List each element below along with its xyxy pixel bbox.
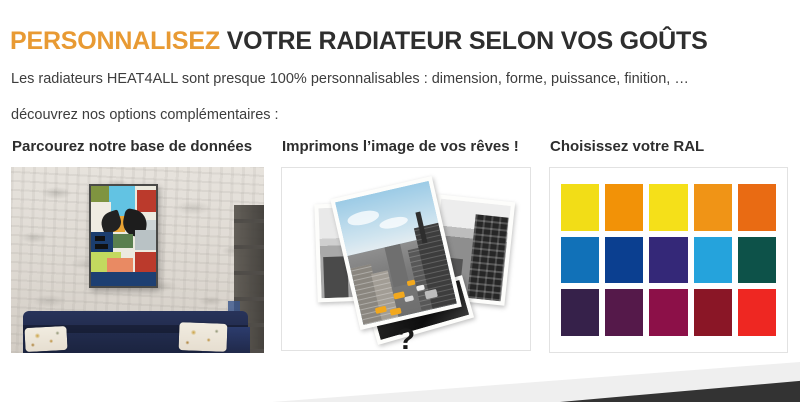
ral-grid (561, 184, 776, 336)
page-title-highlight: PERSONNALISEZ (10, 27, 220, 55)
intro-line-1: Les radiateurs HEAT4ALL sont presque 100… (11, 69, 689, 89)
ral-swatch-rouge-bordeaux[interactable] (694, 289, 732, 336)
ral-swatch-bleu-moyen[interactable] (561, 237, 599, 284)
ral-swatch-jaune-vif[interactable] (561, 184, 599, 231)
framed-artwork (89, 184, 158, 288)
interior-photo[interactable] (11, 167, 264, 353)
cushion-left (24, 326, 67, 352)
ral-swatch-magenta-fonce[interactable] (649, 289, 687, 336)
ral-swatch-prune-fonce[interactable] (605, 289, 643, 336)
ral-swatch-rouge-vif[interactable] (738, 289, 776, 336)
ral-panel[interactable] (549, 167, 788, 353)
page-title: PERSONNALISEZ VOTRE RADIATEUR SELON VOS … (10, 26, 708, 56)
column-print: Imprimons l’image de vos rêves ! (281, 138, 533, 351)
ral-swatch-bleu-ciel[interactable] (694, 237, 732, 284)
ral-swatch-violet-nuit[interactable] (561, 289, 599, 336)
cushion-right (179, 322, 228, 352)
ral-swatch-vert-sapin[interactable] (738, 237, 776, 284)
column-ral-title: Choisissez votre RAL (550, 138, 788, 156)
column-database: Parcourez notre base de données (11, 138, 266, 353)
ral-swatch-orange-ambre[interactable] (605, 184, 643, 231)
column-database-title: Parcourez notre base de données (12, 138, 266, 156)
ral-swatch-orange-safran[interactable] (694, 184, 732, 231)
options-columns: Parcourez notre base de données Imprimon… (0, 138, 800, 363)
column-ral: Choisissez votre RAL (549, 138, 788, 353)
intro-line-2: découvrez nos options complémentaires : (11, 105, 279, 125)
page-title-rest: VOTRE RADIATEUR SELON VOS GOÛTS (227, 27, 708, 55)
ral-swatch-jaune-citron[interactable] (649, 184, 687, 231)
ral-swatch-violet-indigo[interactable] (649, 237, 687, 284)
column-print-title: Imprimons l’image de vos rêves ! (282, 138, 533, 156)
photo-stack-panel[interactable]: ? (281, 167, 531, 351)
question-mark-caption: ? (397, 325, 415, 351)
ral-swatch-orange-profond[interactable] (738, 184, 776, 231)
ral-swatch-bleu-marine[interactable] (605, 237, 643, 284)
